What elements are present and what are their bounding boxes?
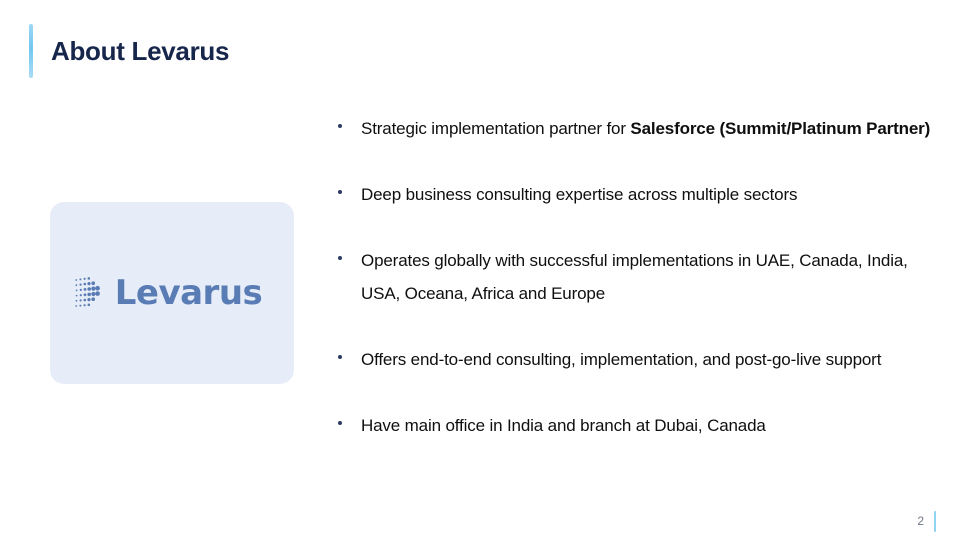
bullet-text-prefix: Offers end-to-end consulting, implementa… <box>361 350 881 369</box>
bullet-text-prefix: Operates globally with successful implem… <box>361 251 908 303</box>
page-title: About Levarus <box>51 24 229 78</box>
list-item: Deep business consulting expertise acros… <box>338 178 938 211</box>
bullet-text: Strategic implementation partner for Sal… <box>361 112 930 145</box>
bullet-text-prefix: Deep business consulting expertise acros… <box>361 185 797 204</box>
slide-title-block: About Levarus <box>29 24 229 78</box>
logo-wordmark: Levarus <box>115 276 263 310</box>
levarus-dotted-arrow-icon <box>74 275 108 311</box>
bullet-text-bold: Salesforce (Summit/Platinum Partner) <box>630 119 930 138</box>
page-number: 2 <box>917 515 924 527</box>
bullet-dot-icon <box>338 355 342 359</box>
bullet-text: Offers end-to-end consulting, implementa… <box>361 343 881 376</box>
slide-footer: 2 <box>917 510 936 532</box>
bullet-dot-icon <box>338 124 342 128</box>
bullet-text: Have main office in India and branch at … <box>361 409 766 442</box>
bullet-text-prefix: Have main office in India and branch at … <box>361 416 766 435</box>
bullet-text: Operates globally with successful implem… <box>361 244 938 310</box>
logo-card: Levarus <box>50 202 294 384</box>
bullet-dot-icon <box>338 190 342 194</box>
bullet-dot-icon <box>338 256 342 260</box>
bullet-list: Strategic implementation partner for Sal… <box>338 112 938 442</box>
bullet-text-prefix: Strategic implementation partner for <box>361 119 630 138</box>
list-item: Operates globally with successful implem… <box>338 244 938 310</box>
bullet-dot-icon <box>338 421 342 425</box>
title-accent-bar <box>29 24 33 78</box>
list-item: Offers end-to-end consulting, implementa… <box>338 343 938 376</box>
bullet-text: Deep business consulting expertise acros… <box>361 178 797 211</box>
list-item: Strategic implementation partner for Sal… <box>338 112 938 145</box>
levarus-logo-lockup: Levarus <box>74 275 263 311</box>
footer-accent-bar <box>934 511 936 532</box>
list-item: Have main office in India and branch at … <box>338 409 938 442</box>
slide-canvas: About Levarus <box>0 0 960 540</box>
